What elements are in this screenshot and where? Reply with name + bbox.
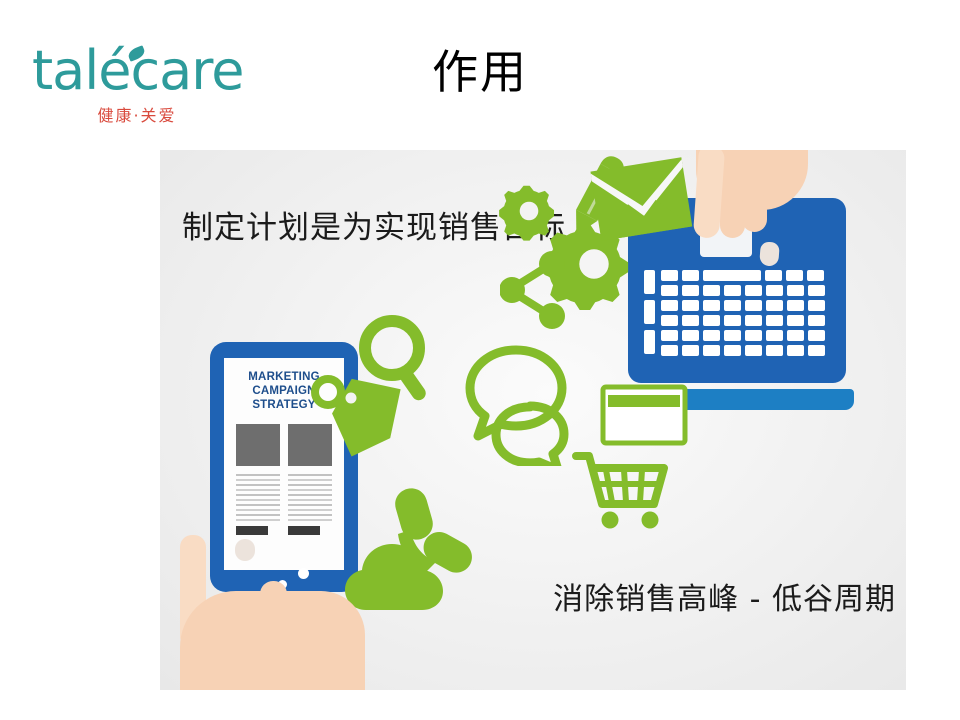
tablet-button-right: [288, 526, 320, 535]
laptop-key: [682, 345, 699, 356]
laptop-key: [766, 300, 783, 311]
laptop-key: [724, 300, 741, 311]
laptop-key: [745, 300, 762, 311]
laptop-key: [661, 300, 678, 311]
laptop-key: [661, 315, 678, 326]
laptop-key: [787, 330, 804, 341]
laptop-key: [787, 315, 804, 326]
laptop-key: [703, 315, 720, 326]
laptop-key: [787, 285, 804, 296]
laptop-key: [745, 285, 762, 296]
laptop-key: [765, 270, 782, 281]
laptop-key: [766, 330, 783, 341]
chat-bubbles-icon: [462, 342, 584, 466]
laptop-key: [724, 330, 741, 341]
laptop-key: [703, 330, 720, 341]
laptop-key: [724, 345, 741, 356]
laptop-key: [766, 285, 783, 296]
laptop-key: [682, 330, 699, 341]
tablet-button-left: [236, 526, 268, 535]
logo-tagline: 健康·关爱: [32, 102, 242, 126]
laptop-key: [703, 300, 720, 311]
laptop-key: [724, 315, 741, 326]
laptop-key: [745, 315, 762, 326]
laptop-key: [808, 315, 825, 326]
laptop-key: [808, 345, 825, 356]
tablet-text-left: [236, 474, 280, 524]
laptop-key: [807, 270, 824, 281]
laptop-key: [703, 270, 761, 281]
laptop-key: [644, 300, 655, 324]
slide-canvas: talécare 健康·关爱 作用 制定计划是为实现销售目标 消除销售高峰 - …: [0, 0, 960, 720]
shopping-cart-icon: [572, 450, 668, 536]
laptop-key: [682, 315, 699, 326]
hand-fingernail: [235, 539, 255, 561]
hand-palm: [180, 591, 365, 690]
laptop-key: [661, 345, 678, 356]
laptop-key: [808, 300, 825, 311]
hand-finger: [742, 192, 767, 232]
laptop-key: [724, 285, 741, 296]
laptop-key: [745, 345, 762, 356]
laptop-key: [682, 285, 699, 296]
tablet-image-left: [236, 424, 280, 466]
share-network-icon: [500, 250, 572, 330]
laptop-key: [745, 330, 762, 341]
laptop-key: [682, 300, 699, 311]
price-tag-icon: [308, 372, 404, 460]
laptop-key: [766, 315, 783, 326]
laptop-key: [644, 270, 655, 294]
laptop-key: [644, 330, 655, 354]
hand-pointing-tablet: [180, 535, 385, 690]
envelope-icon: [592, 160, 692, 246]
hand-pointing-laptop: [696, 150, 816, 258]
slide-illustration: 制定计划是为实现销售目标 消除销售高峰 - 低谷周期 MARKETING CAM…: [160, 150, 906, 690]
laptop-key: [786, 270, 803, 281]
illustration-subline: 消除销售高峰 - 低谷周期: [526, 580, 896, 620]
laptop-key: [661, 285, 678, 296]
laptop-key: [661, 330, 678, 341]
credit-card-icon: [600, 384, 688, 446]
laptop-key: [808, 285, 825, 296]
laptop-key: [703, 285, 720, 296]
laptop-key: [682, 270, 699, 281]
laptop-key: [787, 300, 804, 311]
laptop-key: [766, 345, 783, 356]
page-title: 作用: [0, 44, 960, 100]
tablet-text-right: [288, 474, 332, 524]
laptop-key: [703, 345, 720, 356]
laptop-key: [808, 330, 825, 341]
laptop-key: [787, 345, 804, 356]
laptop-key: [661, 270, 678, 281]
